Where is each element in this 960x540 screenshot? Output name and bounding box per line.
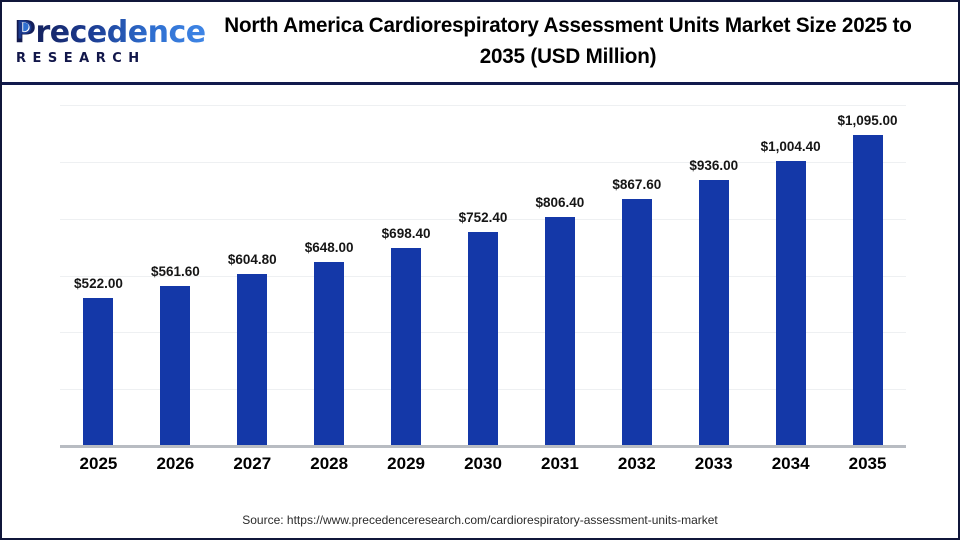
gridline — [60, 105, 906, 106]
bar-value-label: $867.60 — [612, 177, 661, 192]
x-tick-label: 2025 — [80, 454, 118, 474]
bar-value-label: $1,004.40 — [761, 139, 821, 154]
x-axis-line — [60, 445, 906, 448]
x-tick-label: 2028 — [310, 454, 348, 474]
precedence-research-logo: Precedence RESEARCH — [14, 16, 174, 72]
x-tick-label: 2031 — [541, 454, 579, 474]
source-caption: Source: https://www.precedenceresearch.c… — [2, 513, 958, 527]
bar[interactable] — [468, 232, 498, 446]
bar-value-label: $604.80 — [228, 252, 277, 267]
bar-value-label: $752.40 — [459, 210, 508, 225]
bar-value-label: $936.00 — [689, 158, 738, 173]
logo-subtitle: RESEARCH — [16, 51, 146, 66]
x-tick-label: 2034 — [772, 454, 810, 474]
bar[interactable] — [699, 180, 729, 446]
bar-value-label: $806.40 — [536, 195, 585, 210]
bar[interactable] — [237, 274, 267, 446]
x-tick-label: 2026 — [156, 454, 194, 474]
bar-value-label: $561.60 — [151, 264, 200, 279]
bar[interactable] — [83, 298, 113, 446]
bar[interactable] — [545, 217, 575, 446]
bar[interactable] — [391, 248, 421, 446]
x-tick-label: 2027 — [233, 454, 271, 474]
x-tick-label: 2032 — [618, 454, 656, 474]
x-tick-label: 2030 — [464, 454, 502, 474]
bar[interactable] — [314, 262, 344, 446]
bar-value-label: $1,095.00 — [838, 113, 898, 128]
bar-value-label: $648.00 — [305, 240, 354, 255]
bar[interactable] — [622, 199, 652, 446]
page-title: North America Cardiorespiratory Assessme… — [203, 10, 933, 72]
x-tick-label: 2029 — [387, 454, 425, 474]
bar[interactable] — [853, 135, 883, 446]
x-tick-label: 2035 — [849, 454, 887, 474]
bar-value-label: $698.40 — [382, 226, 431, 241]
logo-wordmark: Precedence — [14, 16, 206, 50]
chart-page: Precedence RESEARCH North America Cardio… — [0, 0, 960, 540]
bar[interactable] — [160, 286, 190, 446]
chart-header: Precedence RESEARCH North America Cardio… — [2, 2, 958, 85]
x-tick-label: 2033 — [695, 454, 733, 474]
bar[interactable] — [776, 161, 806, 446]
bar-value-label: $522.00 — [74, 276, 123, 291]
